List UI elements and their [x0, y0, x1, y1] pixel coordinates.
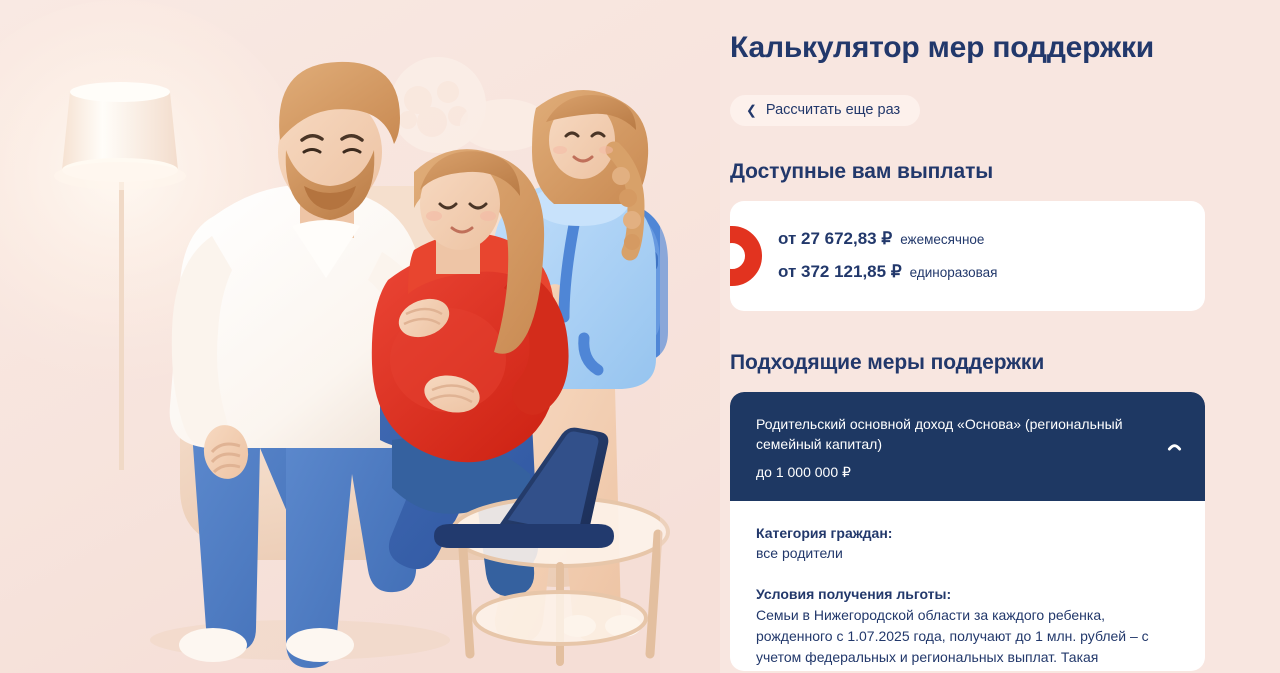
chevron-left-icon: ❮: [746, 104, 757, 117]
payout-amount: от 372 121,85 ₽: [778, 263, 902, 282]
detail-block-conditions: Условия получения льготы: Семьи в Нижего…: [756, 584, 1179, 670]
payout-row: от 27 672,83 ₽ ежемесячное: [778, 230, 997, 249]
measure-name: Родительский основной доход «Основа» (ре…: [756, 415, 1147, 455]
detail-value: Семьи в Нижегородской области за каждого…: [756, 605, 1176, 671]
family-illustration-pane: [0, 0, 720, 673]
payout-row: от 372 121,85 ₽ единоразовая: [778, 263, 997, 282]
measure-details-panel: Категория граждан: все родители Условия …: [730, 501, 1205, 671]
detail-label: Условия получения льготы:: [756, 584, 1179, 604]
detail-value: все родители: [756, 543, 1179, 563]
payout-list: от 27 672,83 ₽ ежемесячное от 372 121,85…: [730, 230, 997, 281]
measure-amount: до 1 000 000 ₽: [756, 464, 1147, 481]
detail-block-category: Категория граждан: все родители: [756, 523, 1179, 564]
payout-kind: единоразовая: [910, 266, 998, 281]
measure-accordion-item: Родительский основной доход «Основа» (ре…: [730, 392, 1205, 671]
results-panel: Калькулятор мер поддержки ❮ Рассчитать е…: [720, 0, 1280, 673]
chevron-up-icon[interactable]: [1166, 438, 1183, 455]
suitable-measures-heading: Подходящие меры поддержки: [730, 351, 1205, 375]
detail-label: Категория граждан:: [756, 523, 1179, 543]
recalculate-button[interactable]: ❮ Рассчитать еще раз: [730, 95, 920, 126]
page-title: Калькулятор мер поддержки: [730, 30, 1205, 65]
family-expecting-baby-illustration: [0, 0, 720, 673]
calculator-results-page: Калькулятор мер поддержки ❮ Рассчитать е…: [0, 0, 1280, 673]
recalculate-label: Рассчитать еще раз: [766, 103, 900, 118]
available-payouts-heading: Доступные вам выплаты: [730, 160, 1205, 184]
available-payouts-card: от 27 672,83 ₽ ежемесячное от 372 121,85…: [730, 201, 1205, 311]
payout-amount: от 27 672,83 ₽: [778, 230, 892, 249]
measure-accordion-header[interactable]: Родительский основной доход «Основа» (ре…: [730, 392, 1205, 501]
payout-kind: ежемесячное: [900, 233, 984, 248]
